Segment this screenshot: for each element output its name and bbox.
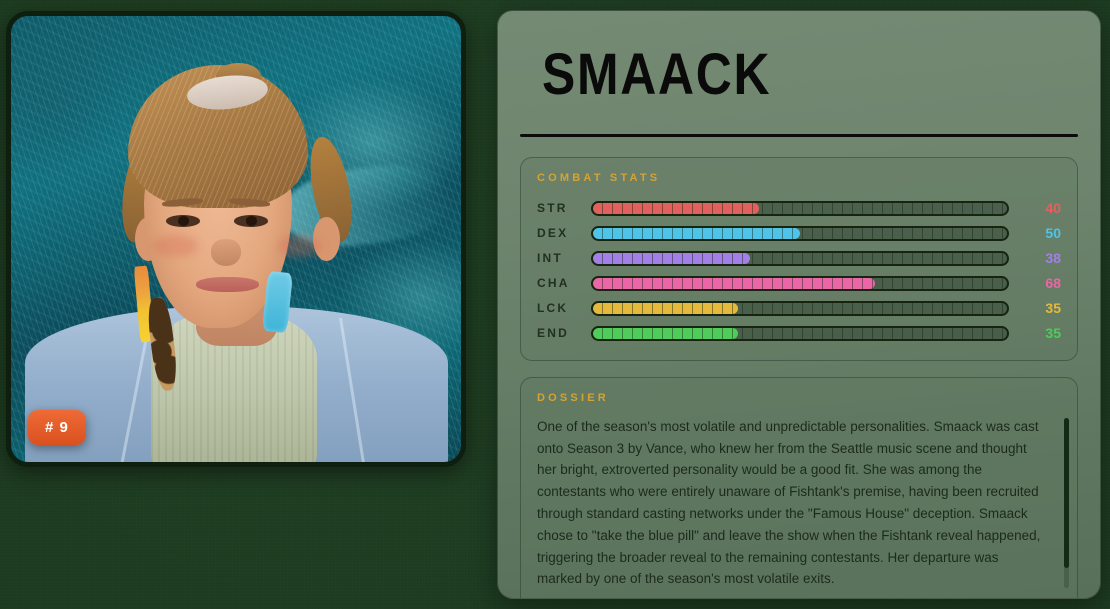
stat-track-end xyxy=(591,326,1009,341)
dossier-scroll-area[interactable]: One of the season's most volatile and un… xyxy=(537,416,1061,599)
title-divider xyxy=(520,134,1078,137)
stat-value-end: 35 xyxy=(1021,325,1061,341)
stat-track-lck xyxy=(591,301,1009,316)
character-info-panel: SMAACK COMBAT STATS STR40DEX50INT38CHA68… xyxy=(497,10,1101,599)
stat-value-cha: 68 xyxy=(1021,275,1061,291)
stat-fill-dex xyxy=(593,228,800,239)
stat-label-end: END xyxy=(537,326,591,340)
stat-track-str xyxy=(591,201,1009,216)
portrait-subject xyxy=(11,16,461,462)
rank-badge: # 9 xyxy=(28,410,86,445)
cheek-right xyxy=(277,235,322,257)
dossier-text: One of the season's most volatile and un… xyxy=(537,416,1041,590)
stat-row-int: INT38 xyxy=(537,246,1061,271)
dossier-scrollbar[interactable] xyxy=(1064,418,1069,588)
photo-frame xyxy=(6,11,466,467)
stat-value-dex: 50 xyxy=(1021,225,1061,241)
stat-label-str: STR xyxy=(537,201,591,215)
stat-fill-cha xyxy=(593,278,875,289)
stat-track-int xyxy=(591,251,1009,266)
dossier-card: DOSSIER One of the season's most volatil… xyxy=(520,377,1078,599)
eye-right xyxy=(234,215,268,227)
stat-track-dex xyxy=(591,226,1009,241)
stat-label-cha: CHA xyxy=(537,276,591,290)
combat-stats-title: COMBAT STATS xyxy=(537,172,1061,184)
stat-row-lck: LCK35 xyxy=(537,296,1061,321)
stat-label-lck: LCK xyxy=(537,301,591,315)
dossier-title: DOSSIER xyxy=(537,392,1061,404)
stat-row-str: STR40 xyxy=(537,196,1061,221)
stat-value-lck: 35 xyxy=(1021,300,1061,316)
stat-fill-end xyxy=(593,328,738,339)
character-name-heading: SMAACK xyxy=(542,45,1003,106)
stat-row-end: END35 xyxy=(537,321,1061,346)
stat-value-str: 40 xyxy=(1021,200,1061,216)
stat-fill-str xyxy=(593,203,759,214)
stat-fill-int xyxy=(593,253,750,264)
stat-label-int: INT xyxy=(537,251,591,265)
cheek-left xyxy=(153,235,198,257)
character-photo-panel: # 9 xyxy=(6,11,466,467)
mouth xyxy=(196,277,259,292)
stat-track-cha xyxy=(591,276,1009,291)
combat-stats-list: STR40DEX50INT38CHA68LCK35END35 xyxy=(537,196,1061,346)
photo-image xyxy=(11,16,461,462)
stat-fill-lck xyxy=(593,303,738,314)
combat-stats-card: COMBAT STATS STR40DEX50INT38CHA68LCK35EN… xyxy=(520,157,1078,361)
eye-left xyxy=(166,215,200,227)
stat-row-cha: CHA68 xyxy=(537,271,1061,296)
stat-row-dex: DEX50 xyxy=(537,221,1061,246)
stat-label-dex: DEX xyxy=(537,226,591,240)
stat-value-int: 38 xyxy=(1021,250,1061,266)
nose xyxy=(211,239,240,266)
dossier-scrollbar-thumb[interactable] xyxy=(1064,418,1069,568)
